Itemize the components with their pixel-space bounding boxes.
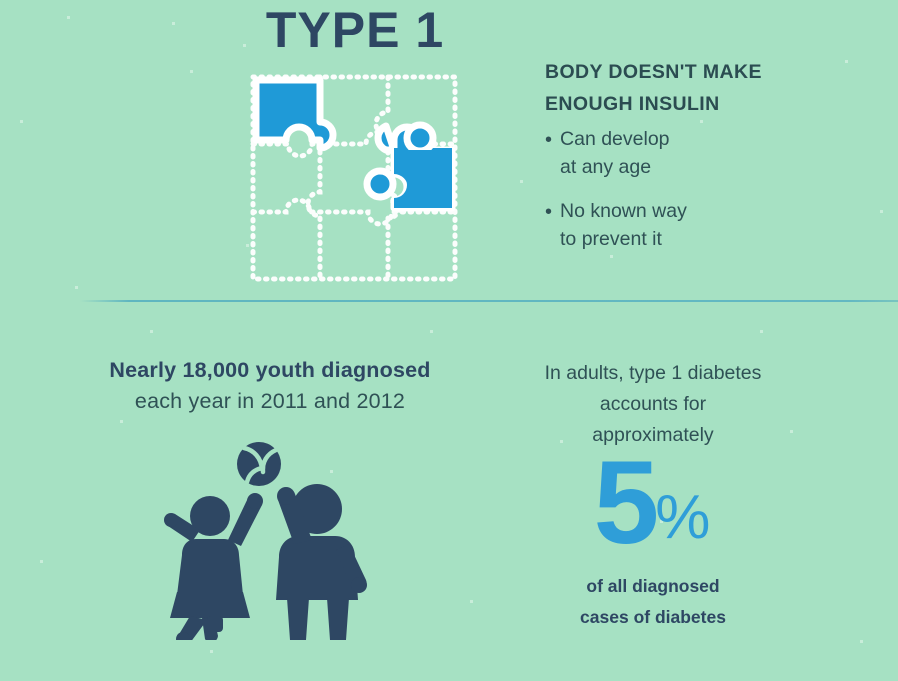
list-item: • No known way to prevent it bbox=[545, 198, 875, 253]
bullet-text-line1: No known way bbox=[560, 200, 687, 222]
bullet-marker-icon: • bbox=[545, 198, 552, 226]
percent-caption-line1: of all diagnosed bbox=[500, 576, 806, 597]
infographic-canvas: TYPE 1 bbox=[0, 0, 898, 681]
list-item: • Can develop at any age bbox=[545, 126, 875, 181]
ball-icon bbox=[237, 442, 281, 486]
section-divider bbox=[80, 300, 898, 302]
bullet-text-line2: at any age bbox=[560, 156, 651, 178]
bullet-marker-icon: • bbox=[545, 126, 552, 154]
percent-figure: 5% bbox=[500, 452, 806, 556]
percent-caption-line2: cases of diabetes bbox=[500, 607, 806, 628]
adults-stat-lead-line1: In adults, type 1 diabetes bbox=[500, 358, 806, 389]
youth-stat-headline: Nearly 18,000 youth diagnosed bbox=[20, 358, 520, 383]
insulin-heading: BODY DOESN'T MAKE ENOUGH INSULIN bbox=[545, 57, 875, 120]
insulin-heading-line1: BODY DOESN'T MAKE bbox=[545, 57, 875, 89]
bullet-text-line2: to prevent it bbox=[560, 228, 662, 250]
children-playing-ball-icon bbox=[152, 440, 392, 640]
bullet-list: • Can develop at any age • No known way … bbox=[545, 126, 875, 271]
percent-value: 5 bbox=[594, 437, 658, 569]
youth-stat-subline: each year in 2011 and 2012 bbox=[20, 389, 520, 414]
page-title: TYPE 1 bbox=[250, 4, 460, 57]
percent-symbol: % bbox=[655, 483, 710, 552]
puzzle-piece-filled-top-left bbox=[256, 80, 333, 148]
puzzle-pieces-icon bbox=[248, 72, 460, 284]
child-left-figure bbox=[164, 493, 263, 640]
adults-stat-lead-line2: accounts for bbox=[500, 389, 806, 420]
bullet-text-line1: Can develop bbox=[560, 128, 670, 150]
insulin-heading-line2: ENOUGH INSULIN bbox=[545, 89, 875, 121]
bullet-text: Can develop at any age bbox=[560, 126, 810, 181]
child-right-figure bbox=[276, 484, 367, 640]
puzzle-piece-filled-middle-right bbox=[367, 125, 452, 208]
bullet-text: No known way to prevent it bbox=[560, 198, 810, 253]
